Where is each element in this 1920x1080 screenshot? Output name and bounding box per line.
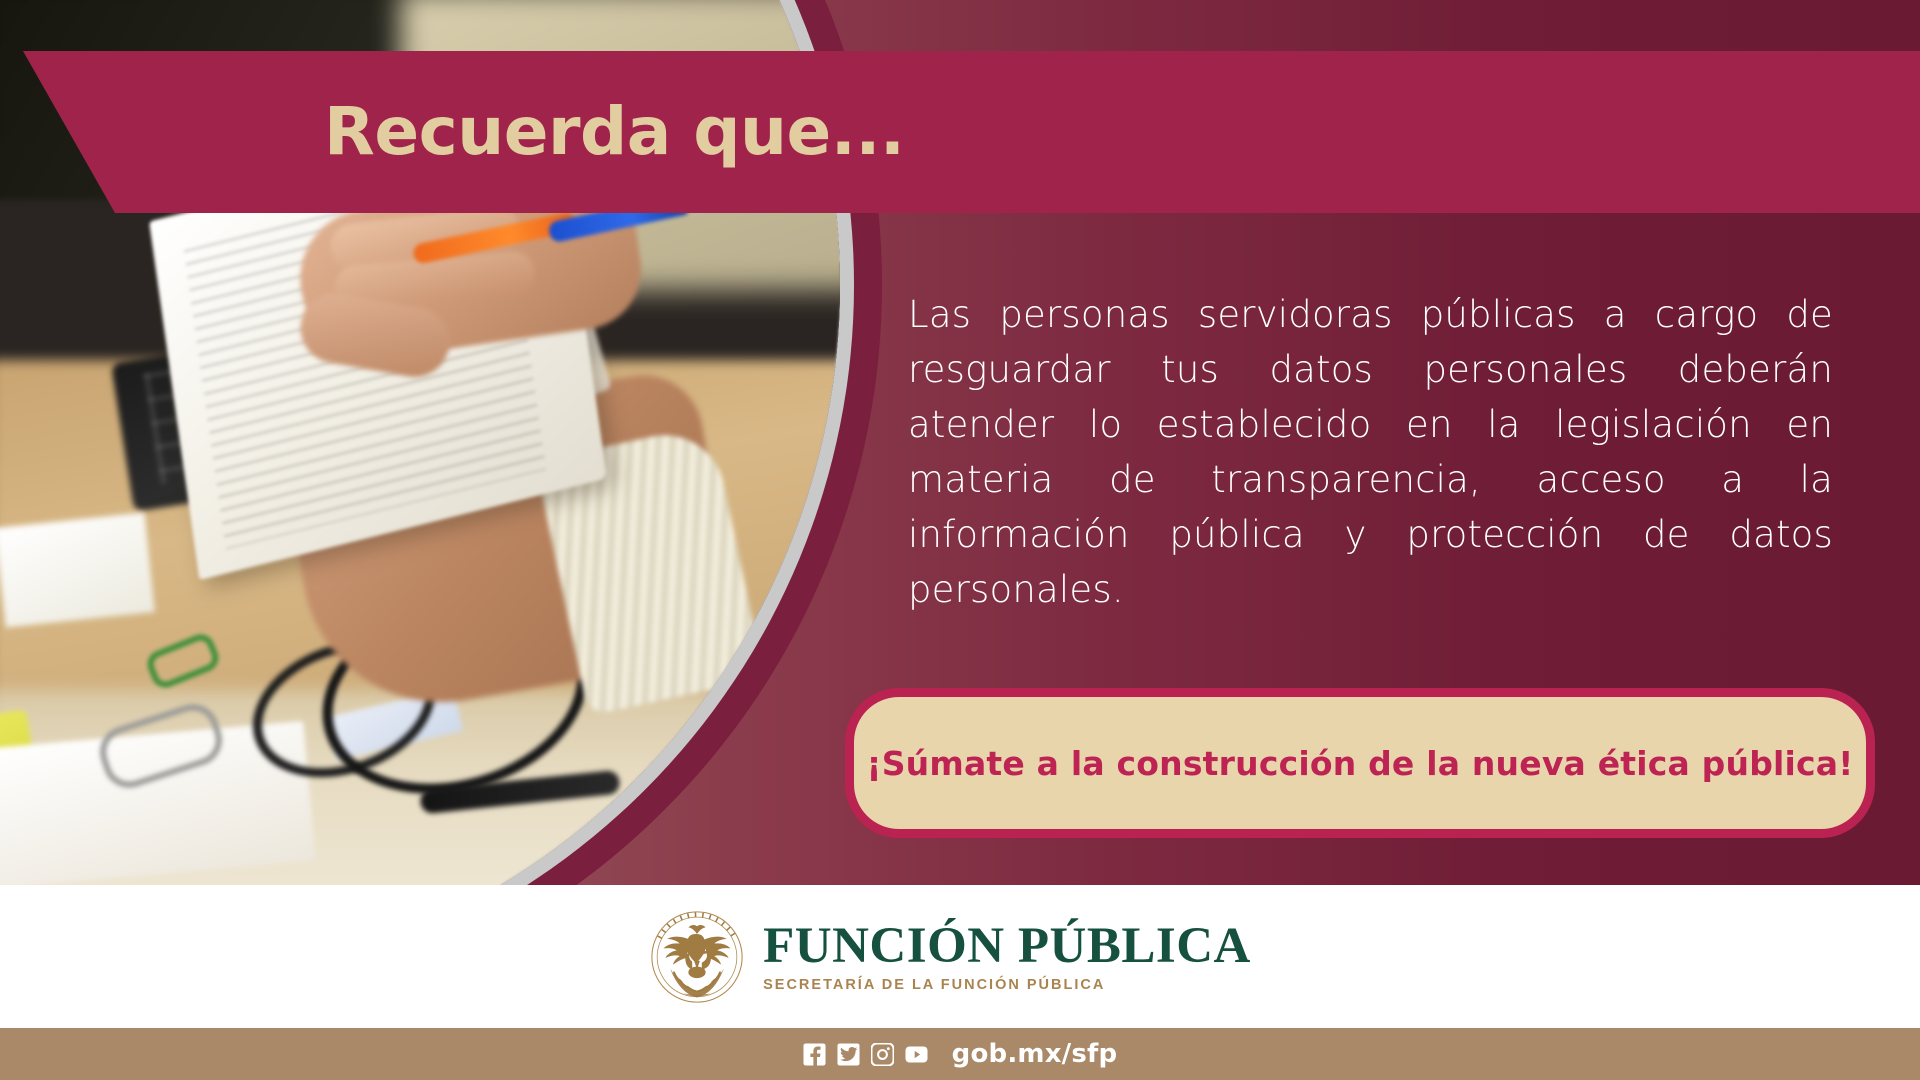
footer-logo-bar: FUNCIÓN PÚBLICA SECRETARÍA DE LA FUNCIÓN… xyxy=(0,885,1920,1028)
hero-stage: Recuerda que... Las personas servidoras … xyxy=(0,0,1920,885)
social-footer-bar: gob.mx/sfp xyxy=(0,1028,1920,1080)
logo-text-block: FUNCIÓN PÚBLICA SECRETARÍA DE LA FUNCIÓN… xyxy=(763,920,1251,993)
cta-button-label: ¡Súmate a la construcción de la nueva ét… xyxy=(866,744,1853,783)
cta-button[interactable]: ¡Súmate a la construcción de la nueva ét… xyxy=(845,688,1875,838)
instagram-icon[interactable] xyxy=(871,1043,894,1066)
twitter-icon[interactable] xyxy=(837,1043,860,1066)
poster-root: Recuerda que... Las personas servidoras … xyxy=(0,0,1920,1080)
youtube-icon[interactable] xyxy=(905,1043,928,1066)
facebook-icon[interactable] xyxy=(803,1043,826,1066)
logo-subtitle: SECRETARÍA DE LA FUNCIÓN PÚBLICA xyxy=(763,977,1251,993)
body-copy: Las personas servidoras públicas a cargo… xyxy=(908,288,1833,618)
body-paragraph: Las personas servidoras públicas a cargo… xyxy=(908,288,1833,618)
site-url-link[interactable]: gob.mx/sfp xyxy=(952,1039,1118,1069)
mexican-coat-of-arms-icon xyxy=(649,909,745,1005)
page-title: Recuerda que... xyxy=(324,99,904,165)
photo-white-card xyxy=(0,512,155,627)
logo-title: FUNCIÓN PÚBLICA xyxy=(763,920,1251,972)
title-banner: Recuerda que... xyxy=(0,51,1920,213)
funcion-publica-logo: FUNCIÓN PÚBLICA SECRETARÍA DE LA FUNCIÓN… xyxy=(649,909,1251,1005)
